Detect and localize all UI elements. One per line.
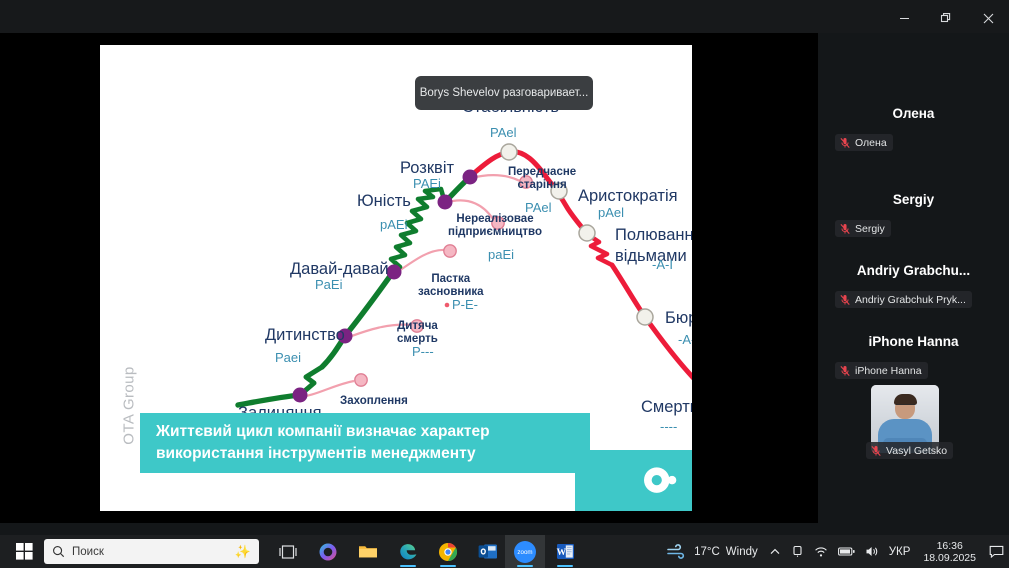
participant-tile-olena[interactable]: Олена Олена	[818, 100, 1009, 169]
active-speaker-text: Borys Shevelov разговаривает...	[420, 87, 589, 99]
participant-chip: Andriy Grabchuk Pryk...	[835, 291, 972, 308]
window-titlebar	[0, 0, 1009, 36]
network-tray-icon[interactable]	[809, 545, 833, 558]
code-label-infancy: Рaeі	[275, 350, 301, 365]
zoom-icon: zoom	[513, 540, 537, 564]
slide-logo-bar	[575, 450, 692, 511]
windows-logo-icon	[16, 543, 33, 560]
participant-tile-sergiy[interactable]: Sergiy Sergiy	[818, 186, 1009, 255]
stage-label-aristocracy: Аристократія	[578, 187, 678, 206]
battery-icon	[838, 546, 855, 557]
taskbar-app-edge[interactable]	[388, 535, 428, 568]
stage-label-adolescence: Юність	[357, 192, 411, 211]
stage-label-death: Смерть	[641, 398, 692, 417]
pitfall-premature-line2: старіння	[508, 179, 576, 192]
caption-line-2: використання інструментів менеджменту	[156, 443, 574, 465]
participant-name: iPhone Hanna	[818, 334, 1009, 349]
clock-time: 16:36	[937, 540, 963, 552]
speaker-icon	[865, 545, 879, 558]
battery-tray-icon[interactable]	[833, 546, 860, 557]
windy-icon	[666, 544, 688, 559]
participant-chip-name: Andriy Grabchuk Pryk...	[855, 294, 966, 306]
shared-screen-stage[interactable]: OTA Group	[0, 33, 818, 523]
taskbar-app-word[interactable]: W	[545, 535, 585, 568]
word-icon: W	[556, 542, 575, 561]
code-label-prime: PAEi	[413, 176, 441, 191]
participant-chip-name: iPhone Hanna	[855, 365, 922, 377]
participant-chip: Sergiy	[835, 220, 891, 237]
chevron-up-icon	[769, 546, 781, 558]
taskbar-app-file-explorer[interactable]	[348, 535, 388, 568]
participant-rail[interactable]: Олена Олена Sergiy Ser	[818, 33, 1009, 523]
stage-label-bureaucracy: Бюрократія	[665, 309, 692, 328]
participant-tile-vasyl-getsko[interactable]: Vasyl Getsko	[818, 385, 1009, 467]
code-label-witch-hunt: -A-I	[652, 257, 673, 272]
code-label-gogo: PaEi	[315, 277, 342, 292]
participant-name: Andriy Grabchu...	[818, 263, 1009, 278]
weather-temperature: 17°C	[694, 546, 720, 558]
participant-chip: iPhone Hanna	[835, 362, 928, 379]
notification-center-button[interactable]	[984, 545, 1009, 558]
windows-taskbar: Поиск ✨	[0, 535, 1009, 568]
clock-widget[interactable]: 16:36 18.09.2025	[915, 540, 984, 564]
taskbar-app-chrome[interactable]	[428, 535, 468, 568]
code-label-aristocracy: pAel	[598, 205, 624, 220]
ota-logo-icon	[644, 464, 678, 498]
stage-label-infancy: Дитинство	[265, 326, 345, 345]
pitfall-premature-line1: Передчасне	[508, 166, 576, 179]
taskbar-app-copilot[interactable]	[308, 535, 348, 568]
participant-name: Олена	[818, 106, 1009, 121]
window-controls	[883, 0, 1009, 36]
search-placeholder: Поиск	[72, 546, 104, 558]
pitfall-affair-line1: Захоплення	[340, 395, 408, 408]
participant-chip-name: Олена	[855, 137, 887, 149]
pitfall-founder-line1: Пастка	[418, 273, 484, 286]
svg-text:zoom: zoom	[517, 549, 532, 556]
system-tray: 17°C Windy	[660, 535, 1009, 568]
mic-off-icon	[839, 365, 851, 377]
weather-widget[interactable]: 17°C Windy	[660, 544, 764, 559]
code-label-adolescence: pAEi	[380, 217, 407, 232]
code-label-death: ----	[660, 419, 677, 434]
minimize-button[interactable]	[883, 0, 925, 36]
witch-hunt-line1: Полювання за	[615, 225, 692, 246]
participant-chip-name: Vasyl Getsko	[886, 445, 947, 457]
search-input[interactable]: Поиск ✨	[44, 539, 259, 564]
app-running-indicator	[557, 565, 573, 567]
code-label-founder-trap: Р-Е-	[452, 297, 478, 312]
participant-chip-name: Sergiy	[855, 223, 885, 235]
language-indicator[interactable]: УКР	[884, 546, 916, 558]
slide-caption-banner: Життєвий цикл компанії визначає характер…	[140, 413, 590, 473]
start-button[interactable]	[6, 535, 42, 568]
taskbar-app-task-view[interactable]	[268, 535, 308, 568]
photo-glasses	[896, 404, 915, 410]
participant-chip: Олена	[835, 134, 893, 151]
code-label-infant-mortality: Р---	[412, 344, 434, 359]
mic-off-icon	[839, 223, 851, 235]
app-running-indicator	[517, 565, 533, 567]
chat-bubble-icon	[989, 545, 1004, 558]
volume-tray-icon[interactable]	[860, 545, 884, 558]
app-running-indicator	[440, 565, 456, 567]
task-view-icon	[279, 544, 297, 560]
pitfall-label-infant-mortality: Дитяча смерть	[397, 320, 438, 346]
pitfall-label-affair: Захоплення	[340, 395, 408, 408]
participant-tile-andriy[interactable]: Andriy Grabchu... Andriy Grabchuk Pryk..…	[818, 257, 1009, 326]
taskbar-app-outlook[interactable]	[468, 535, 508, 568]
folder-icon	[358, 543, 378, 560]
pitfall-label-unfulfilled: Нереалізовае підприємництво	[448, 213, 542, 239]
clock-date: 18.09.2025	[923, 552, 976, 564]
copilot-sparkle-icon[interactable]: ✨	[235, 545, 251, 558]
pitfall-label-premature-aging: Передчасне старіння	[508, 166, 576, 192]
participant-name: Sergiy	[818, 192, 1009, 207]
zoom-meeting-window: OTA Group	[0, 0, 1009, 568]
pitfall-founder-line2: засновника	[418, 286, 484, 299]
code-label-unfulfilled: paЕi	[488, 247, 514, 262]
restore-button[interactable]	[925, 0, 967, 36]
pitfall-unfulfilled-line1: Нереалізовае	[448, 213, 542, 226]
cloud-sync-icon	[791, 545, 804, 558]
onedrive-tray-icon[interactable]	[786, 545, 809, 558]
active-speaker-toast: Borys Shevelov разговаривает...	[415, 76, 593, 110]
code-label-stability: PAel	[490, 125, 517, 140]
svg-text:W: W	[556, 548, 566, 558]
show-hidden-icons-button[interactable]	[764, 546, 786, 558]
weather-description: Windy	[726, 546, 758, 558]
close-button[interactable]	[967, 0, 1009, 36]
copilot-icon	[318, 542, 338, 562]
wifi-icon	[814, 545, 828, 558]
pitfall-unfulfilled-line2: підприємництво	[448, 226, 542, 239]
participant-chip: Vasyl Getsko	[866, 442, 953, 459]
code-label-bureaucracy: -A--	[678, 332, 692, 347]
outlook-icon	[478, 543, 498, 560]
chrome-icon	[438, 542, 458, 562]
pitfall-label-founder-trap: Пастка засновника	[418, 273, 484, 299]
pitfall-infant-line1: Дитяча	[397, 320, 438, 333]
edge-icon	[398, 542, 418, 562]
pitfall-infant-line2: смерть	[397, 333, 438, 346]
presentation-slide: OTA Group	[100, 45, 692, 511]
mic-off-icon	[870, 445, 882, 457]
caption-line-1: Життєвий цикл компанії визначає характер	[156, 421, 574, 443]
taskbar-app-zoom[interactable]: zoom	[505, 535, 545, 568]
mic-off-icon	[839, 294, 851, 306]
search-icon	[52, 545, 65, 558]
app-running-indicator	[400, 565, 416, 567]
mic-off-icon	[839, 137, 851, 149]
